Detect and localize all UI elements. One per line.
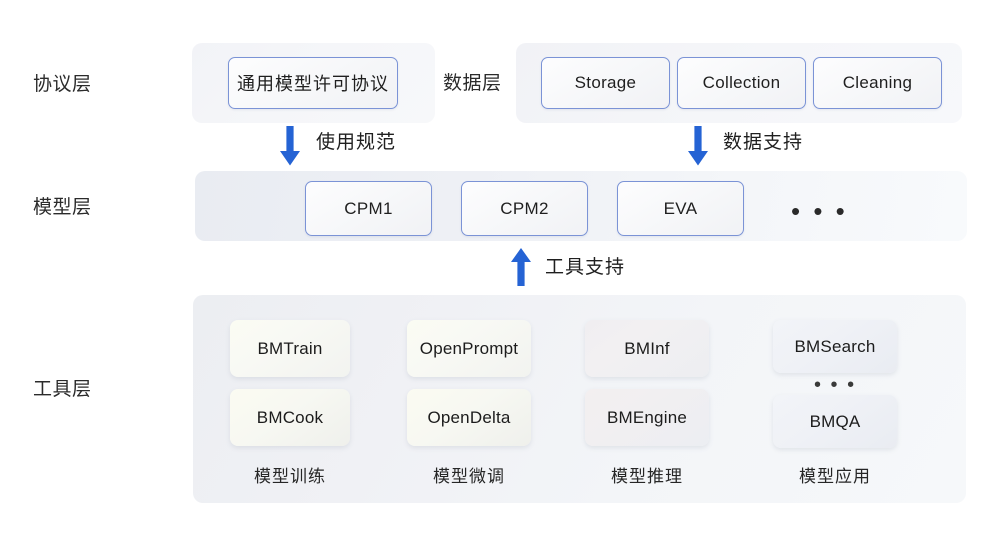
tool-column-caption-training: 模型训练 — [230, 468, 350, 485]
data-box-storage-label: Storage — [575, 73, 637, 93]
model-layer-ellipsis: • • • — [791, 198, 848, 224]
arrow-label-usage-spec: 使用规范 — [316, 133, 396, 152]
tool-chip-bmsearch-label: BMSearch — [795, 337, 876, 357]
model-box-eva[interactable]: EVA — [617, 181, 744, 236]
row-label-model: 模型层 — [33, 198, 92, 217]
tool-chip-opendelta-label: OpenDelta — [427, 408, 510, 428]
data-box-cleaning-label: Cleaning — [843, 73, 913, 93]
tool-chip-bmcook[interactable]: BMCook — [230, 389, 350, 446]
tool-chip-bmsearch[interactable]: BMSearch — [773, 320, 897, 373]
arrow-label-tool-support: 工具支持 — [545, 258, 625, 277]
tool-chip-bmengine-label: BMEngine — [607, 408, 687, 428]
arrow-down-usage-spec-icon — [279, 126, 301, 166]
arrow-up-tool-support-icon — [510, 248, 532, 286]
data-box-collection-label: Collection — [703, 73, 781, 93]
protocol-box-license-label: 通用模型许可协议 — [237, 70, 389, 96]
tool-chip-bminf-label: BMInf — [624, 339, 669, 359]
tool-column-caption-application: 模型应用 — [773, 468, 897, 485]
tool-column-caption-finetune: 模型微调 — [407, 468, 531, 485]
model-box-cpm2-label: CPM2 — [500, 199, 548, 219]
protocol-box-license[interactable]: 通用模型许可协议 — [228, 57, 398, 109]
tool-chip-bmqa[interactable]: BMQA — [773, 395, 897, 448]
data-box-collection[interactable]: Collection — [677, 57, 806, 109]
tool-column-caption-inference: 模型推理 — [585, 468, 709, 485]
model-box-eva-label: EVA — [664, 199, 698, 219]
tool-chip-openprompt-label: OpenPrompt — [420, 339, 518, 359]
data-box-storage[interactable]: Storage — [541, 57, 670, 109]
row-label-tool: 工具层 — [33, 380, 92, 399]
arrow-label-data-support: 数据支持 — [723, 133, 803, 152]
row-label-protocol: 协议层 — [33, 75, 92, 94]
tool-chip-opendelta[interactable]: OpenDelta — [407, 389, 531, 446]
tool-chip-bminf[interactable]: BMInf — [585, 320, 709, 377]
tool-chip-bmtrain[interactable]: BMTrain — [230, 320, 350, 377]
data-box-cleaning[interactable]: Cleaning — [813, 57, 942, 109]
tool-chip-bmqa-label: BMQA — [810, 412, 861, 432]
tool-column-ellipsis-application: • • • — [814, 375, 856, 395]
tool-chip-openprompt[interactable]: OpenPrompt — [407, 320, 531, 377]
tool-chip-bmtrain-label: BMTrain — [257, 339, 322, 359]
architecture-diagram: 协议层 模型层 工具层 通用模型许可协议 数据层 Storage Collect… — [0, 0, 993, 540]
tool-chip-bmcook-label: BMCook — [257, 408, 323, 428]
model-box-cpm1-label: CPM1 — [344, 199, 392, 219]
tool-chip-bmengine[interactable]: BMEngine — [585, 389, 709, 446]
model-box-cpm2[interactable]: CPM2 — [461, 181, 588, 236]
row-label-data: 数据层 — [443, 74, 502, 93]
arrow-down-data-support-icon — [687, 126, 709, 166]
model-box-cpm1[interactable]: CPM1 — [305, 181, 432, 236]
